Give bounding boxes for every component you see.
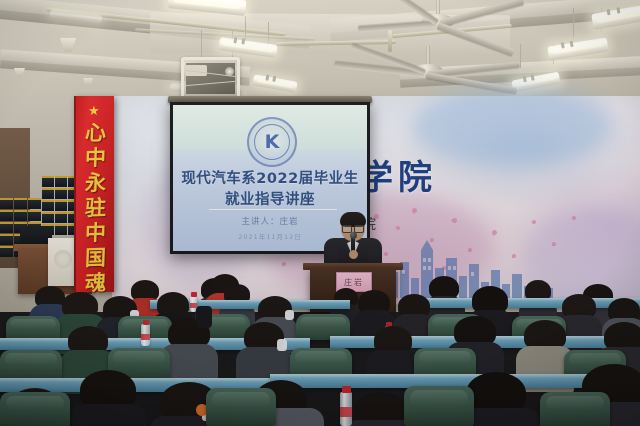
banner-char: 中 [84, 222, 106, 244]
red-banner-characters: 心 中 永 驻 中 国 魂 [76, 122, 114, 293]
banner-char: 魂 [84, 272, 106, 294]
lecture-hall-photo: 代汽车学院 青春 活力汽院 [0, 0, 640, 426]
tube-light [547, 37, 608, 60]
banner-char: 永 [84, 172, 106, 194]
seat-back [404, 386, 474, 426]
slide-title-line1: 现代汽车系2022届毕业生 [173, 167, 367, 188]
seat-back [540, 392, 610, 426]
emblem-letter: K [249, 119, 295, 165]
red-vertical-banner: ★ 心 中 永 驻 中 国 魂 [74, 96, 114, 292]
cone-lamp [83, 78, 93, 86]
star-icon: ★ [88, 104, 100, 117]
slide-title-line2: 就业指导讲座 [173, 188, 367, 209]
banner-char: 心 [84, 122, 106, 144]
nameplate-text: 庄岩 [344, 277, 364, 288]
audience-person [70, 370, 146, 426]
banner-char: 中 [84, 147, 106, 169]
seat-back [206, 388, 276, 426]
projector-cage [181, 57, 240, 101]
school-emblem-icon: K [247, 117, 297, 167]
ceiling-fan [338, 46, 518, 90]
glasses-icon [342, 225, 364, 231]
backpack [196, 306, 212, 328]
banner-char: 驻 [84, 197, 106, 219]
ceiling-fan [368, 0, 508, 42]
ceiling [0, 0, 640, 102]
water-bottle [141, 324, 150, 346]
seat-back [0, 392, 70, 426]
banner-char: 国 [84, 247, 106, 269]
cone-lamp [60, 38, 76, 52]
slide-divider [209, 209, 337, 210]
tube-light [252, 74, 297, 92]
water-bottle [340, 392, 352, 426]
cone-lamp [14, 68, 25, 77]
